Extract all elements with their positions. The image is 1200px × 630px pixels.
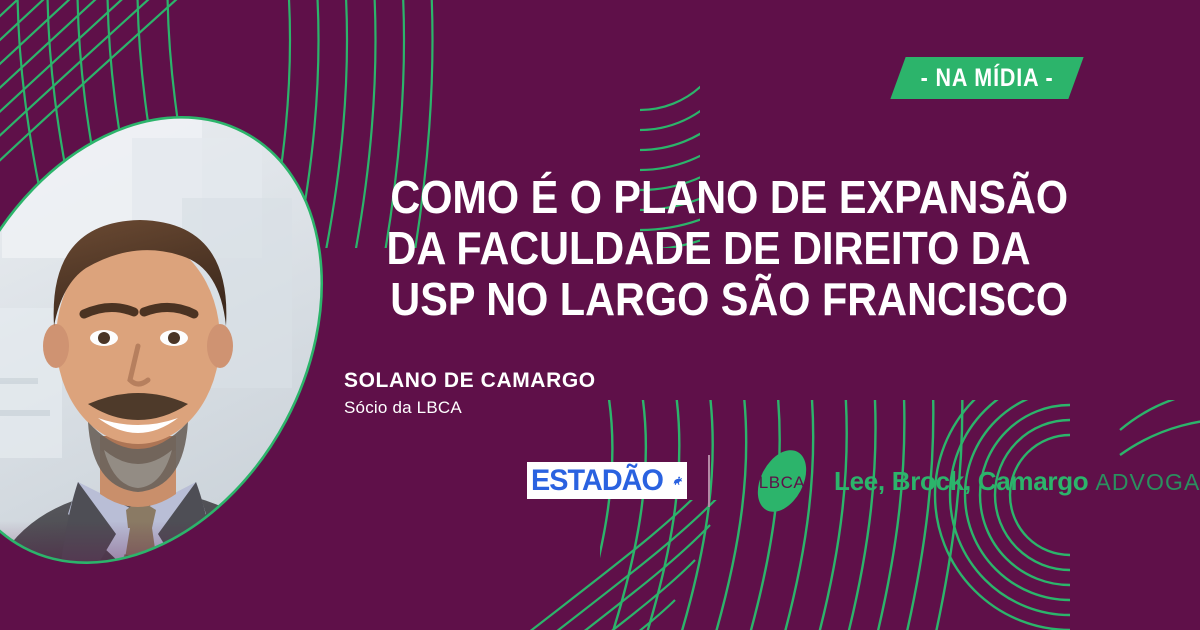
- decor-bottom-left-arcs: [300, 500, 720, 630]
- media-badge-label: - NA MÍDIA -: [910, 64, 1065, 93]
- estadao-wordmark: ESTADÃO: [531, 466, 663, 496]
- headline-line-1: COMO É O PLANO DE EXPANSÃO: [315, 172, 1015, 223]
- lbca-firm-suffix: ADVOGADOS: [1095, 469, 1200, 495]
- media-card: - NA MÍDIA - COMO É O PLANO DE EXPANSÃO …: [0, 0, 1200, 630]
- estadao-logo: ESTADÃO: [527, 462, 687, 499]
- logo-divider: [708, 455, 710, 507]
- lbca-wordmark: Lee, Brock, CamargoADVOGADOS: [834, 466, 1200, 497]
- headline-line-2: DA FACULDADE DE DIREITO DA: [315, 223, 1015, 274]
- lbca-logo: LBCA Lee, Brock, CamargoADVOGADOS: [742, 450, 1200, 512]
- headline: COMO É O PLANO DE EXPANSÃO DA FACULDADE …: [315, 172, 1015, 325]
- lbca-monogram-mark: LBCA: [742, 450, 828, 512]
- portrait-oval-frame: [0, 78, 352, 630]
- decor-bottom-arcs: [600, 400, 1200, 630]
- media-badge: - NA MÍDIA -: [890, 57, 1083, 99]
- speaker-block: SOLANO DE CAMARGO Sócio da LBCA: [344, 368, 596, 420]
- horse-rider-icon: [672, 466, 683, 496]
- lbca-firm-name: Lee, Brock, Camargo: [834, 466, 1088, 496]
- speaker-role: Sócio da LBCA: [344, 396, 596, 420]
- portrait: [0, 78, 352, 630]
- headline-line-3: USP NO LARGO SÃO FRANCISCO: [315, 274, 1015, 325]
- lbca-monogram-text: LBCA: [759, 473, 806, 492]
- speaker-name: SOLANO DE CAMARGO: [344, 368, 596, 394]
